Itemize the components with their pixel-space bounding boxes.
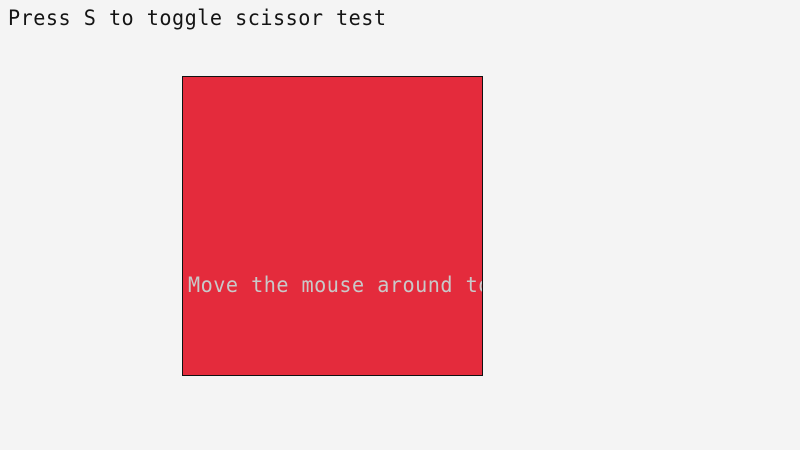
- hud-instruction-text: Press S to toggle scissor test: [8, 6, 387, 30]
- scissor-test-rectangle[interactable]: Move the mouse around to r: [182, 76, 483, 376]
- scissor-clipped-message: Move the mouse around to r: [188, 273, 483, 297]
- render-canvas[interactable]: Press S to toggle scissor test Move the …: [0, 0, 800, 450]
